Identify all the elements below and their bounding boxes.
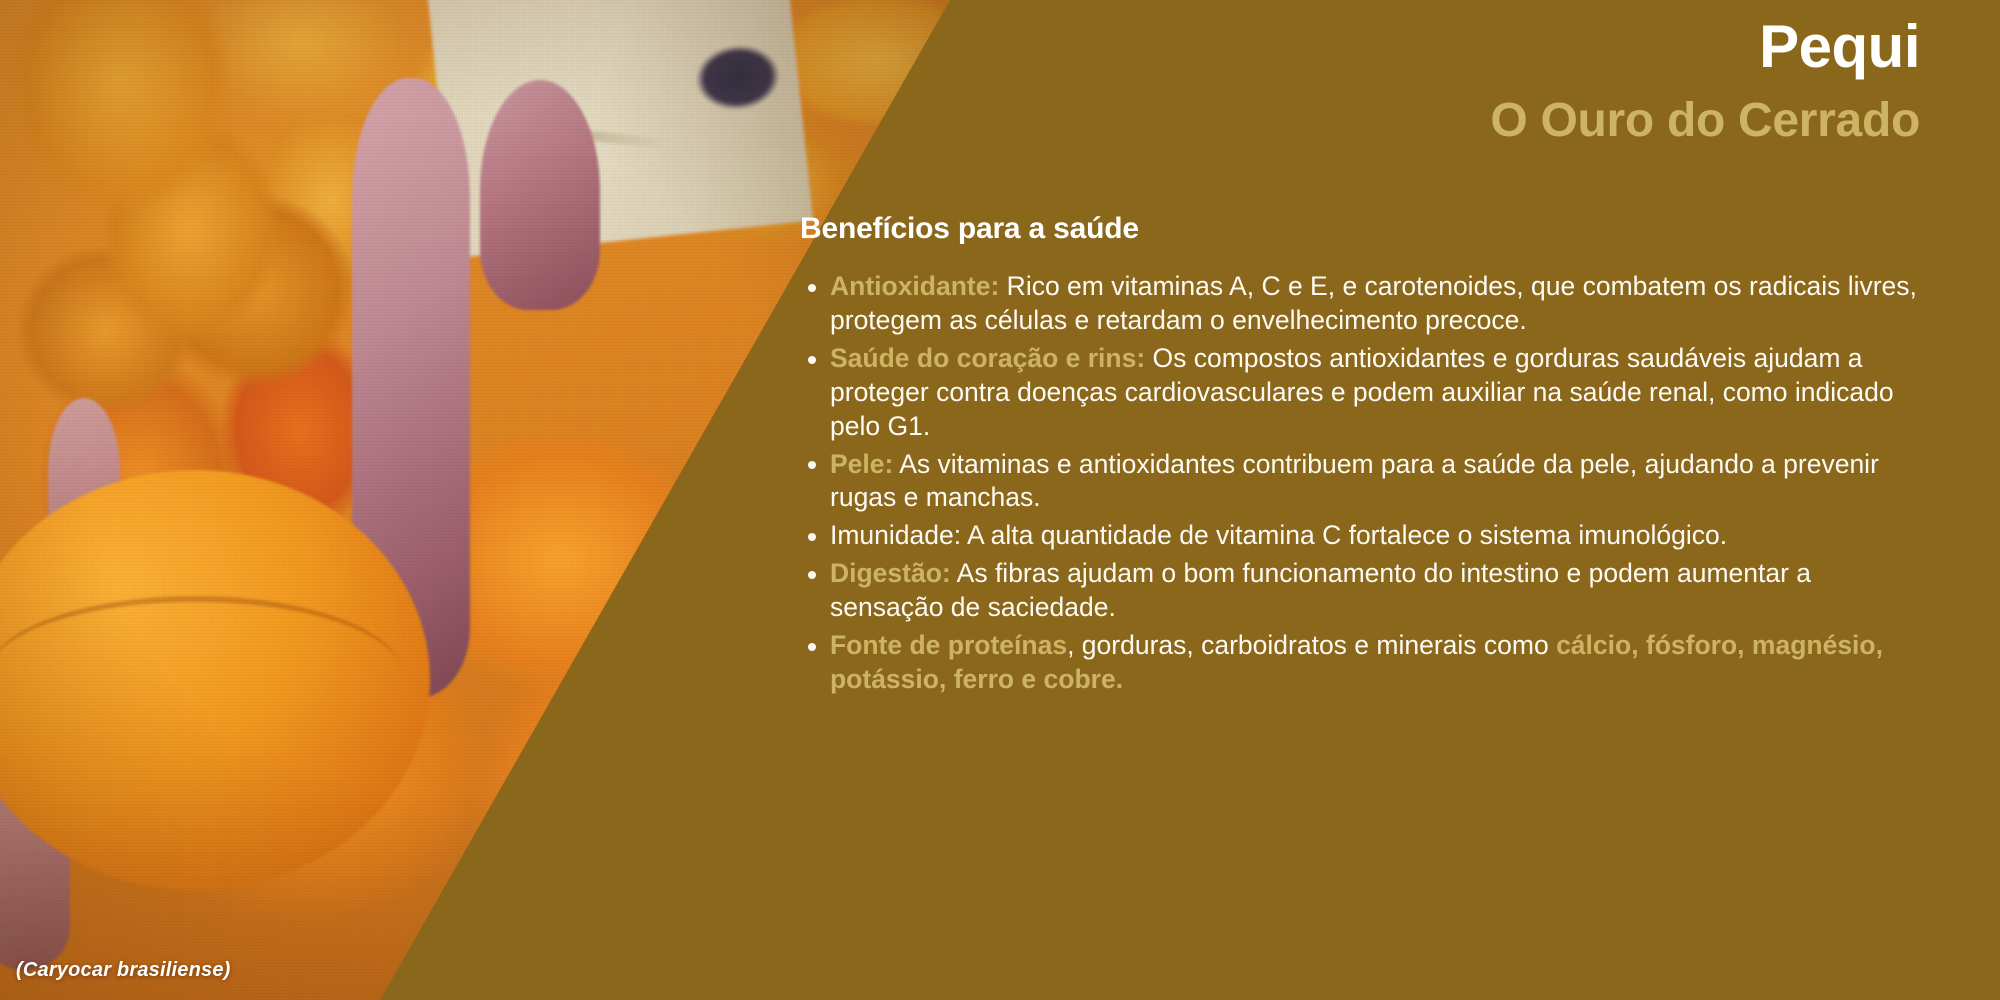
list-item: Digestão: As fibras ajudam o bom funcion… (800, 557, 1920, 625)
list-item-text: A alta quantidade de vitamina C fortalec… (961, 520, 1727, 550)
list-item-lead: Fonte de proteínas (830, 630, 1067, 660)
list-item-lead: Saúde do coração e rins: (830, 343, 1145, 373)
page-subtitle: O Ouro do Cerrado (1490, 96, 1920, 146)
list-item-text: , gorduras, carboidratos e minerais como (1067, 630, 1556, 660)
list-item: Saúde do coração e rins: Os compostos an… (800, 342, 1920, 444)
list-item: Pele: As vitaminas e antioxidantes contr… (800, 448, 1920, 516)
bullet-dot-icon (808, 533, 816, 541)
benefits-list: Antioxidante: Rico em vitaminas A, C e E… (800, 270, 1920, 697)
bullet-dot-icon (808, 461, 816, 469)
slide-canvas: (Caryocar brasiliense) Pequi O Ouro do C… (0, 0, 2000, 1000)
list-item: Antioxidante: Rico em vitaminas A, C e E… (800, 270, 1920, 338)
slide-header: Pequi O Ouro do Cerrado (1490, 16, 1920, 146)
list-item-text: As vitaminas e antioxidantes contribuem … (830, 449, 1879, 513)
bullet-dot-icon (808, 356, 816, 364)
page-title: Pequi (1490, 16, 1920, 78)
list-item-lead: Antioxidante: (830, 271, 999, 301)
list-item-lead: Pele: (830, 449, 893, 479)
bullet-dot-icon (808, 571, 816, 579)
list-item: Imunidade: A alta quantidade de vitamina… (800, 519, 1920, 553)
list-item-text: As fibras ajudam o bom funcionamento do … (830, 558, 1811, 622)
scientific-name-caption: (Caryocar brasiliense) (16, 959, 231, 982)
list-item: Fonte de proteínas, gorduras, carboidrat… (800, 629, 1920, 697)
benefits-section: Benefícios para a saúde Antioxidante: Ri… (800, 212, 1920, 701)
list-item-lead: Imunidade: (830, 520, 961, 550)
list-item-lead: Digestão: (830, 558, 951, 588)
bullet-dot-icon (808, 643, 816, 651)
bullet-dot-icon (808, 284, 816, 292)
section-heading: Benefícios para a saúde (800, 212, 1920, 246)
